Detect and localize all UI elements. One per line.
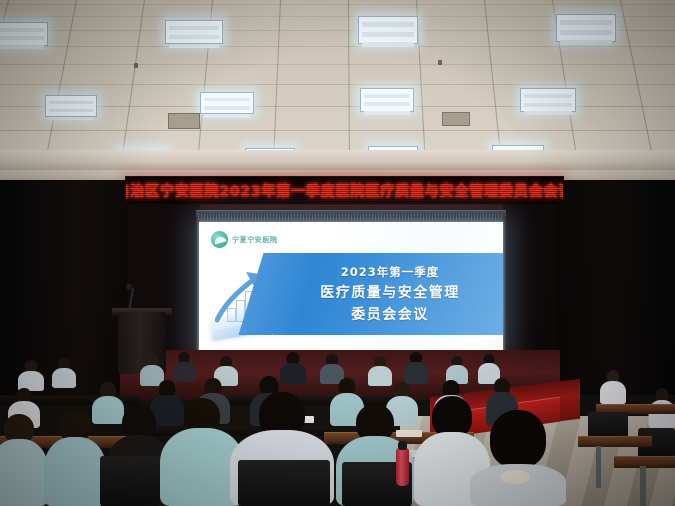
presentation-slide: 宁夏宁安医院 2023年第一季度 医疗质量与安全管理 <box>199 222 503 353</box>
desk <box>578 436 652 447</box>
ceiling-sensor <box>134 63 138 68</box>
ceiling-vent <box>442 112 470 126</box>
ceiling-sensor <box>438 60 442 65</box>
chair <box>238 460 330 506</box>
desk-leg <box>596 446 601 488</box>
chair <box>588 412 628 438</box>
person <box>470 410 566 506</box>
led-banner-text: 自治区宁安医院2023年第一季度医院医疗质量与安全管理委员会会议 <box>125 180 564 201</box>
ceiling <box>0 0 675 168</box>
desk-leg <box>640 466 646 506</box>
ceiling-grid-line <box>0 64 675 65</box>
ceiling-beam <box>0 150 675 170</box>
ceiling-vent <box>168 113 200 129</box>
slide-line-3: 委员会会议 <box>351 304 429 324</box>
person <box>173 352 195 382</box>
water-bottle <box>396 448 409 486</box>
roller-blind-housing <box>196 210 506 222</box>
ceiling-light <box>200 92 254 114</box>
hair-tie <box>500 470 530 484</box>
ceiling-light <box>360 88 414 112</box>
ceiling-grid-line <box>0 84 675 85</box>
ceiling-grid-line <box>0 4 675 5</box>
hospital-logo: 宁夏宁安医院 <box>211 231 278 248</box>
audience <box>0 352 675 506</box>
ceiling-light <box>0 22 48 46</box>
hospital-logo-icon <box>211 231 228 248</box>
slide-line-1: 2023年第一季度 <box>341 264 440 280</box>
slide-line-2: 医疗质量与安全管理 <box>320 282 460 302</box>
ceiling-light <box>520 88 576 112</box>
person <box>600 370 626 404</box>
slide-title-block: 2023年第一季度 医疗质量与安全管理 委员会会议 <box>277 255 503 333</box>
ceiling-light <box>45 95 97 117</box>
person <box>0 414 48 506</box>
microphone-head-icon <box>126 284 132 290</box>
ceiling-grid-line <box>0 46 675 47</box>
person <box>44 410 106 506</box>
person <box>404 352 428 384</box>
conference-hall-photo: 自治区宁安医院2023年第一季度医院医疗质量与安全管理委员会会议 宁夏宁安医院 <box>0 0 675 506</box>
projection-screen: 宁夏宁安医院 2023年第一季度 医疗质量与安全管理 <box>199 222 503 353</box>
person <box>18 360 44 390</box>
led-banner: 自治区宁安医院2023年第一季度医院医疗质量与安全管理委员会会议 <box>125 176 564 205</box>
ceiling-light <box>358 16 418 44</box>
chair <box>100 456 160 506</box>
ceiling-grid-line <box>0 130 675 131</box>
hospital-logo-text: 宁夏宁安医院 <box>232 235 278 245</box>
ceiling-light <box>165 20 223 44</box>
person <box>52 358 76 388</box>
ceiling-light <box>556 14 616 42</box>
